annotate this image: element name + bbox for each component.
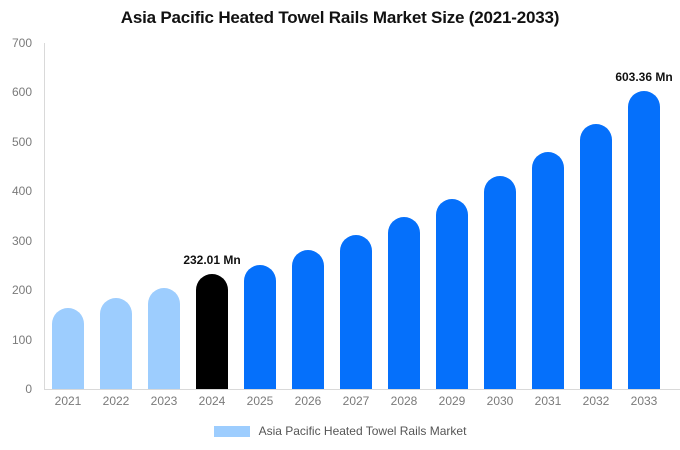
y-axis-tick-label: 0 (0, 382, 32, 396)
bar-2029[interactable] (436, 199, 468, 389)
bar-2021[interactable] (52, 308, 84, 389)
bar-value-label: 603.36 Mn (615, 70, 672, 84)
legend-item[interactable]: Asia Pacific Heated Towel Rails Market (214, 424, 467, 438)
bar-slot (524, 43, 572, 389)
bar-slot (44, 43, 92, 389)
bar-2033[interactable]: 603.36 Mn (628, 91, 660, 389)
y-axis-tick-label: 500 (0, 135, 32, 149)
x-axis-tick-2029: 2029 (428, 394, 476, 408)
x-axis-tick-2032: 2032 (572, 394, 620, 408)
y-axis-tick-label: 400 (0, 184, 32, 198)
legend-swatch-icon (214, 426, 250, 437)
x-axis-tick-2026: 2026 (284, 394, 332, 408)
bar-slot (236, 43, 284, 389)
x-axis-tick-2023: 2023 (140, 394, 188, 408)
bar-2024[interactable]: 232.01 Mn (196, 274, 228, 389)
bar-slot (380, 43, 428, 389)
bar-2032[interactable] (580, 124, 612, 389)
x-axis-tick-2027: 2027 (332, 394, 380, 408)
bar-2031[interactable] (532, 152, 564, 389)
bar-2026[interactable] (292, 250, 324, 389)
x-axis-tick-2025: 2025 (236, 394, 284, 408)
bar-slot (476, 43, 524, 389)
x-axis-ticks: 2021202220232024202520262027202820292030… (44, 394, 680, 414)
bar-value-label: 232.01 Mn (183, 253, 240, 267)
x-axis-tick-2024: 2024 (188, 394, 236, 408)
chart-legend: Asia Pacific Heated Towel Rails Market (0, 424, 680, 438)
y-axis-tick-label: 600 (0, 85, 32, 99)
bar-2028[interactable] (388, 217, 420, 389)
x-axis-tick-2033: 2033 (620, 394, 668, 408)
bar-2023[interactable] (148, 288, 180, 389)
bar-slot (140, 43, 188, 389)
y-axis-tick-label: 700 (0, 36, 32, 50)
bar-slot (332, 43, 380, 389)
y-axis-tick-label: 100 (0, 333, 32, 347)
bar-slot (92, 43, 140, 389)
chart-container: Asia Pacific Heated Towel Rails Market S… (0, 0, 680, 450)
x-axis-tick-2022: 2022 (92, 394, 140, 408)
bars-layer: 232.01 Mn603.36 Mn (44, 43, 680, 389)
y-axis-tick-label: 300 (0, 234, 32, 248)
legend-label: Asia Pacific Heated Towel Rails Market (259, 424, 467, 438)
y-axis-tick-label: 200 (0, 283, 32, 297)
bar-slot: 232.01 Mn (188, 43, 236, 389)
x-axis-tick-2028: 2028 (380, 394, 428, 408)
chart-title: Asia Pacific Heated Towel Rails Market S… (0, 8, 680, 28)
x-axis-tick-2031: 2031 (524, 394, 572, 408)
bar-slot (284, 43, 332, 389)
bar-slot (572, 43, 620, 389)
bar-2025[interactable] (244, 265, 276, 389)
bar-2027[interactable] (340, 235, 372, 389)
x-axis-tick-2030: 2030 (476, 394, 524, 408)
bar-2022[interactable] (100, 298, 132, 389)
bar-2030[interactable] (484, 176, 516, 389)
x-axis-tick-2021: 2021 (44, 394, 92, 408)
x-axis-line (44, 389, 680, 390)
bar-slot: 603.36 Mn (620, 43, 668, 389)
bar-slot (428, 43, 476, 389)
